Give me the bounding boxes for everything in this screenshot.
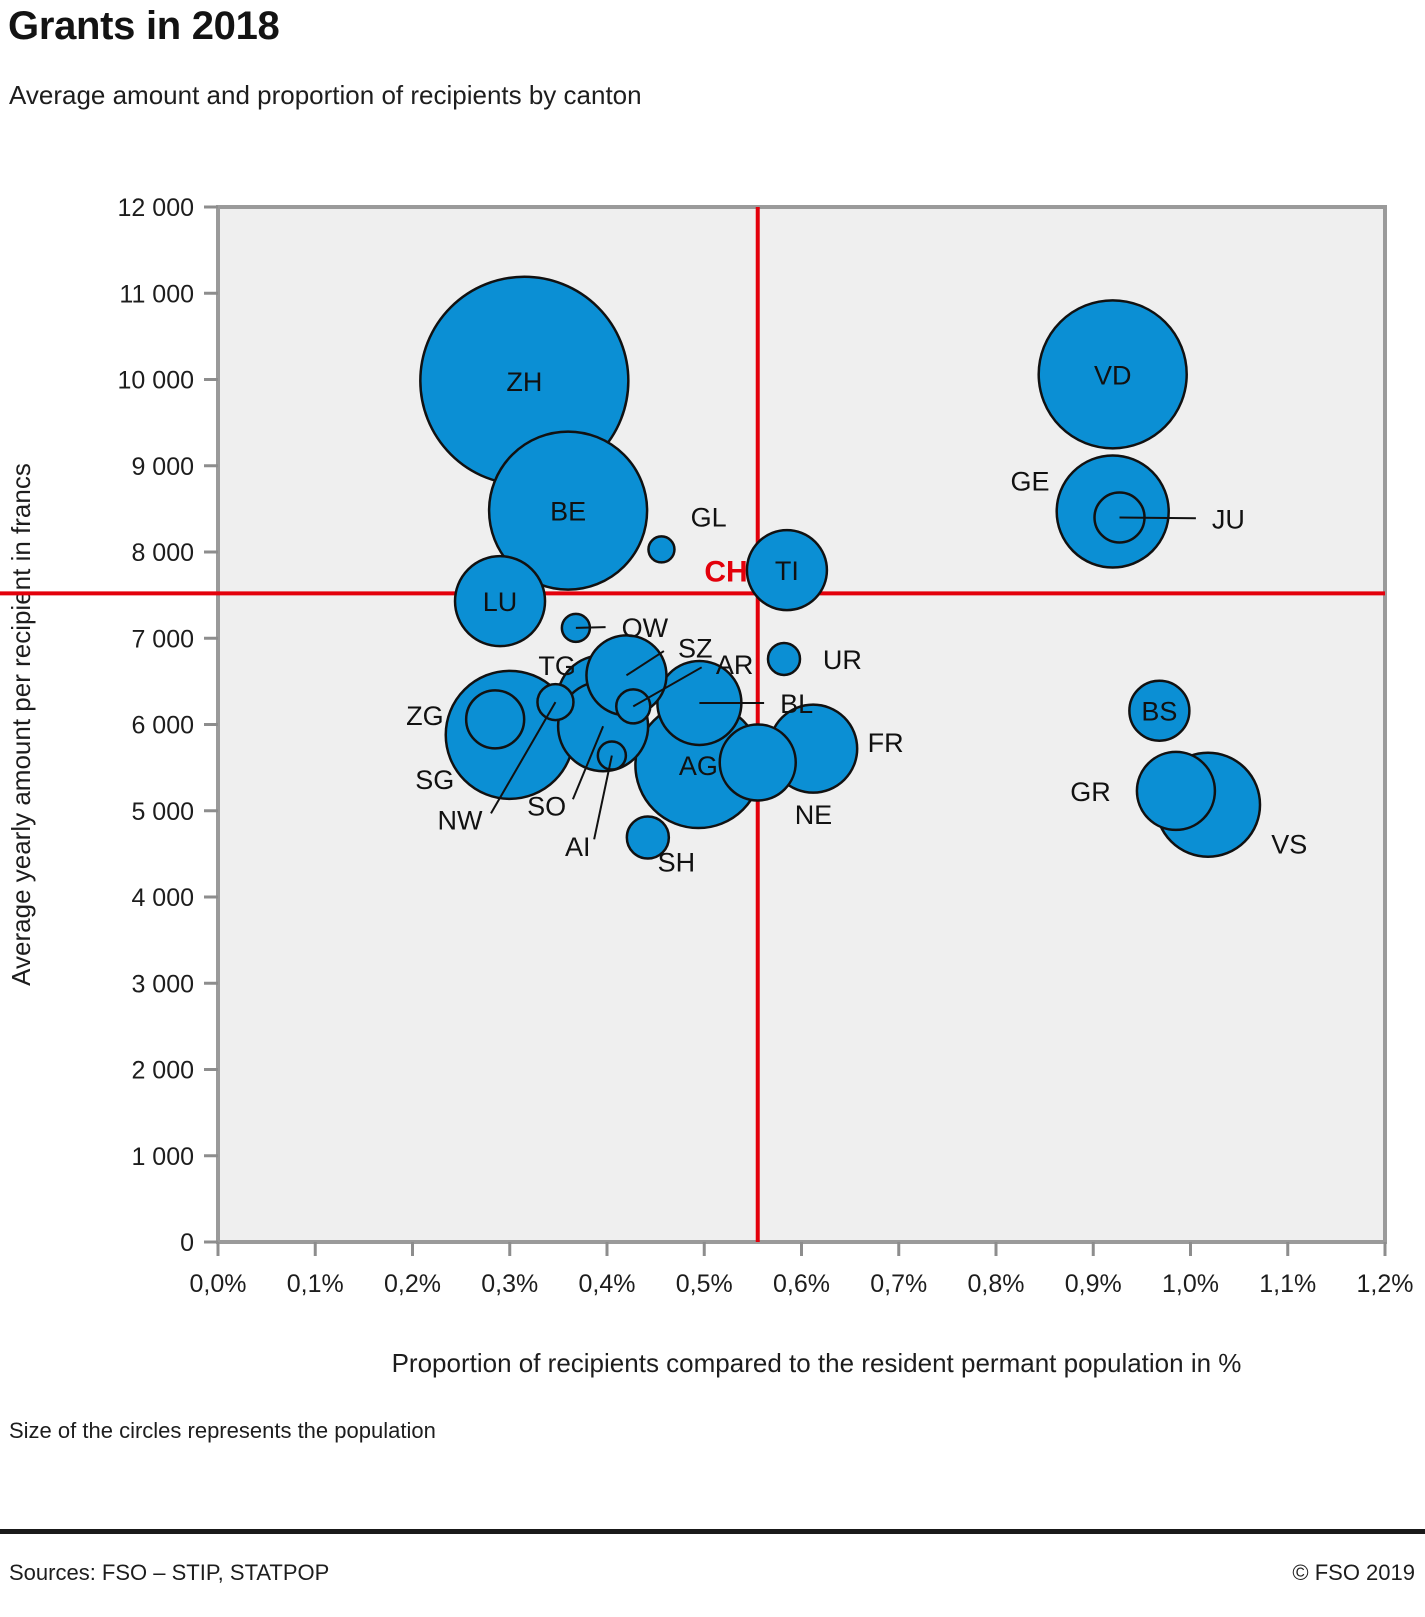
bubble-label-sg: SG: [415, 765, 454, 795]
y-tick-label: 11 000: [119, 280, 194, 308]
x-tick-label: 0,3%: [481, 1270, 538, 1298]
x-tick-label: 0,9%: [1065, 1270, 1122, 1298]
bubble-label-lu: LU: [483, 587, 518, 617]
y-tick-label: 9 000: [131, 453, 194, 481]
copyright-text: © FSO 2019: [1292, 1560, 1415, 1586]
bubble-label-vs: VS: [1271, 830, 1307, 860]
bubble-label-gr: GR: [1070, 777, 1111, 807]
y-tick-label: 1 000: [131, 1143, 194, 1171]
y-tick-label: 3 000: [131, 970, 194, 998]
sources-text: Sources: FSO – STIP, STATPOP: [9, 1560, 329, 1586]
x-tick-label: 1,0%: [1162, 1270, 1219, 1298]
bubble-label-be: BE: [550, 497, 586, 527]
bubble-label-ag: AG: [679, 751, 718, 781]
bubble-label-ju: JU: [1212, 504, 1245, 534]
bubble-zg[interactable]: [466, 690, 524, 748]
y-tick-label: 6 000: [131, 712, 194, 740]
x-axis-title: Proportion of recipients compared to the…: [392, 1348, 1242, 1378]
bubble-label-ti: TI: [775, 556, 799, 586]
bubble-ne[interactable]: [720, 724, 796, 800]
x-tick-label: 0,2%: [384, 1270, 441, 1298]
bubble-label-ge: GE: [1010, 466, 1049, 496]
bubble-label-sh: SH: [658, 848, 696, 878]
y-tick-label: 0: [180, 1229, 194, 1257]
leader-line-ow: [576, 627, 606, 628]
x-tick-label: 0,4%: [579, 1270, 636, 1298]
x-tick-label: 0,7%: [870, 1270, 927, 1298]
x-tick-label: 1,2%: [1357, 1270, 1414, 1298]
bubble-label-ai: AI: [565, 832, 591, 862]
leader-line-ju: [1120, 518, 1196, 519]
bubble-label-vd: VD: [1094, 360, 1132, 390]
bubble-label-zh: ZH: [506, 367, 542, 397]
bubble-label-nw: NW: [438, 805, 483, 835]
y-tick-label: 12 000: [118, 194, 194, 222]
bubble-label-tg: TG: [538, 651, 576, 681]
bubble-label-bl: BL: [780, 689, 813, 719]
bubble-ur[interactable]: [768, 643, 800, 675]
x-tick-label: 0,8%: [968, 1270, 1025, 1298]
y-tick-label: 4 000: [131, 884, 194, 912]
bubble-label-fr: FR: [868, 728, 904, 758]
bubble-gl[interactable]: [648, 536, 674, 562]
bubble-label-ur: UR: [823, 645, 862, 675]
y-tick-label: 8 000: [131, 539, 194, 567]
bubble-label-ar: AR: [716, 650, 754, 680]
bubble-gr[interactable]: [1137, 752, 1215, 830]
bubble-label-zg: ZG: [406, 701, 444, 731]
ch-reference-label: CH: [704, 555, 747, 588]
bubble-label-sz: SZ: [678, 634, 713, 664]
y-tick-label: 7 000: [131, 625, 194, 653]
y-tick-label: 5 000: [131, 798, 194, 826]
x-tick-label: 0,6%: [773, 1270, 830, 1298]
bubble-label-ne: NE: [795, 800, 833, 830]
x-tick-label: 0,5%: [676, 1270, 733, 1298]
y-tick-label: 2 000: [131, 1057, 194, 1085]
bubble-label-gl: GL: [691, 503, 727, 533]
y-tick-label: 10 000: [118, 367, 194, 395]
bubble-chart: 01 0002 0003 0004 0005 0006 0007 0008 00…: [0, 0, 1425, 1400]
bubble-label-so: SO: [527, 792, 566, 822]
x-tick-label: 0,0%: [190, 1270, 247, 1298]
x-tick-label: 1,1%: [1259, 1270, 1316, 1298]
bubble-label-ow: OW: [622, 613, 669, 643]
footer-divider: [0, 1529, 1425, 1534]
bubble-label-bs: BS: [1141, 697, 1177, 727]
size-note: Size of the circles represents the popul…: [9, 1418, 436, 1444]
chart-page: Grants in 2018 Average amount and propor…: [0, 0, 1425, 1617]
y-axis-title: Average yearly amount per recipient in f…: [6, 463, 36, 986]
x-tick-label: 0,1%: [287, 1270, 344, 1298]
